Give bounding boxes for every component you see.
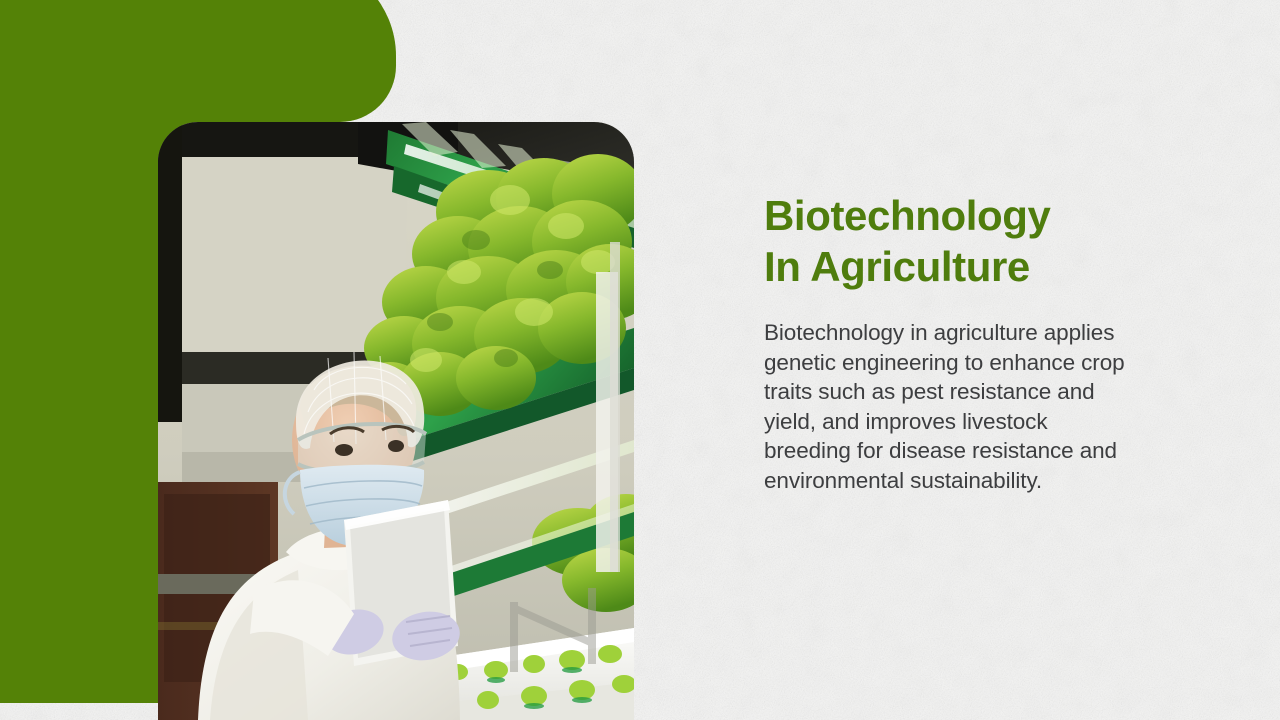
slide-canvas: Biotechnology In Agriculture Biotechnolo… (0, 0, 1280, 720)
photo-card (158, 122, 634, 720)
page-title: Biotechnology In Agriculture (764, 190, 1144, 292)
body-paragraph: Biotechnology in agriculture applies gen… (764, 318, 1139, 495)
green-accent-block (0, 0, 396, 122)
text-column: Biotechnology In Agriculture Biotechnolo… (764, 190, 1144, 495)
vertical-farm-photo (158, 122, 634, 720)
